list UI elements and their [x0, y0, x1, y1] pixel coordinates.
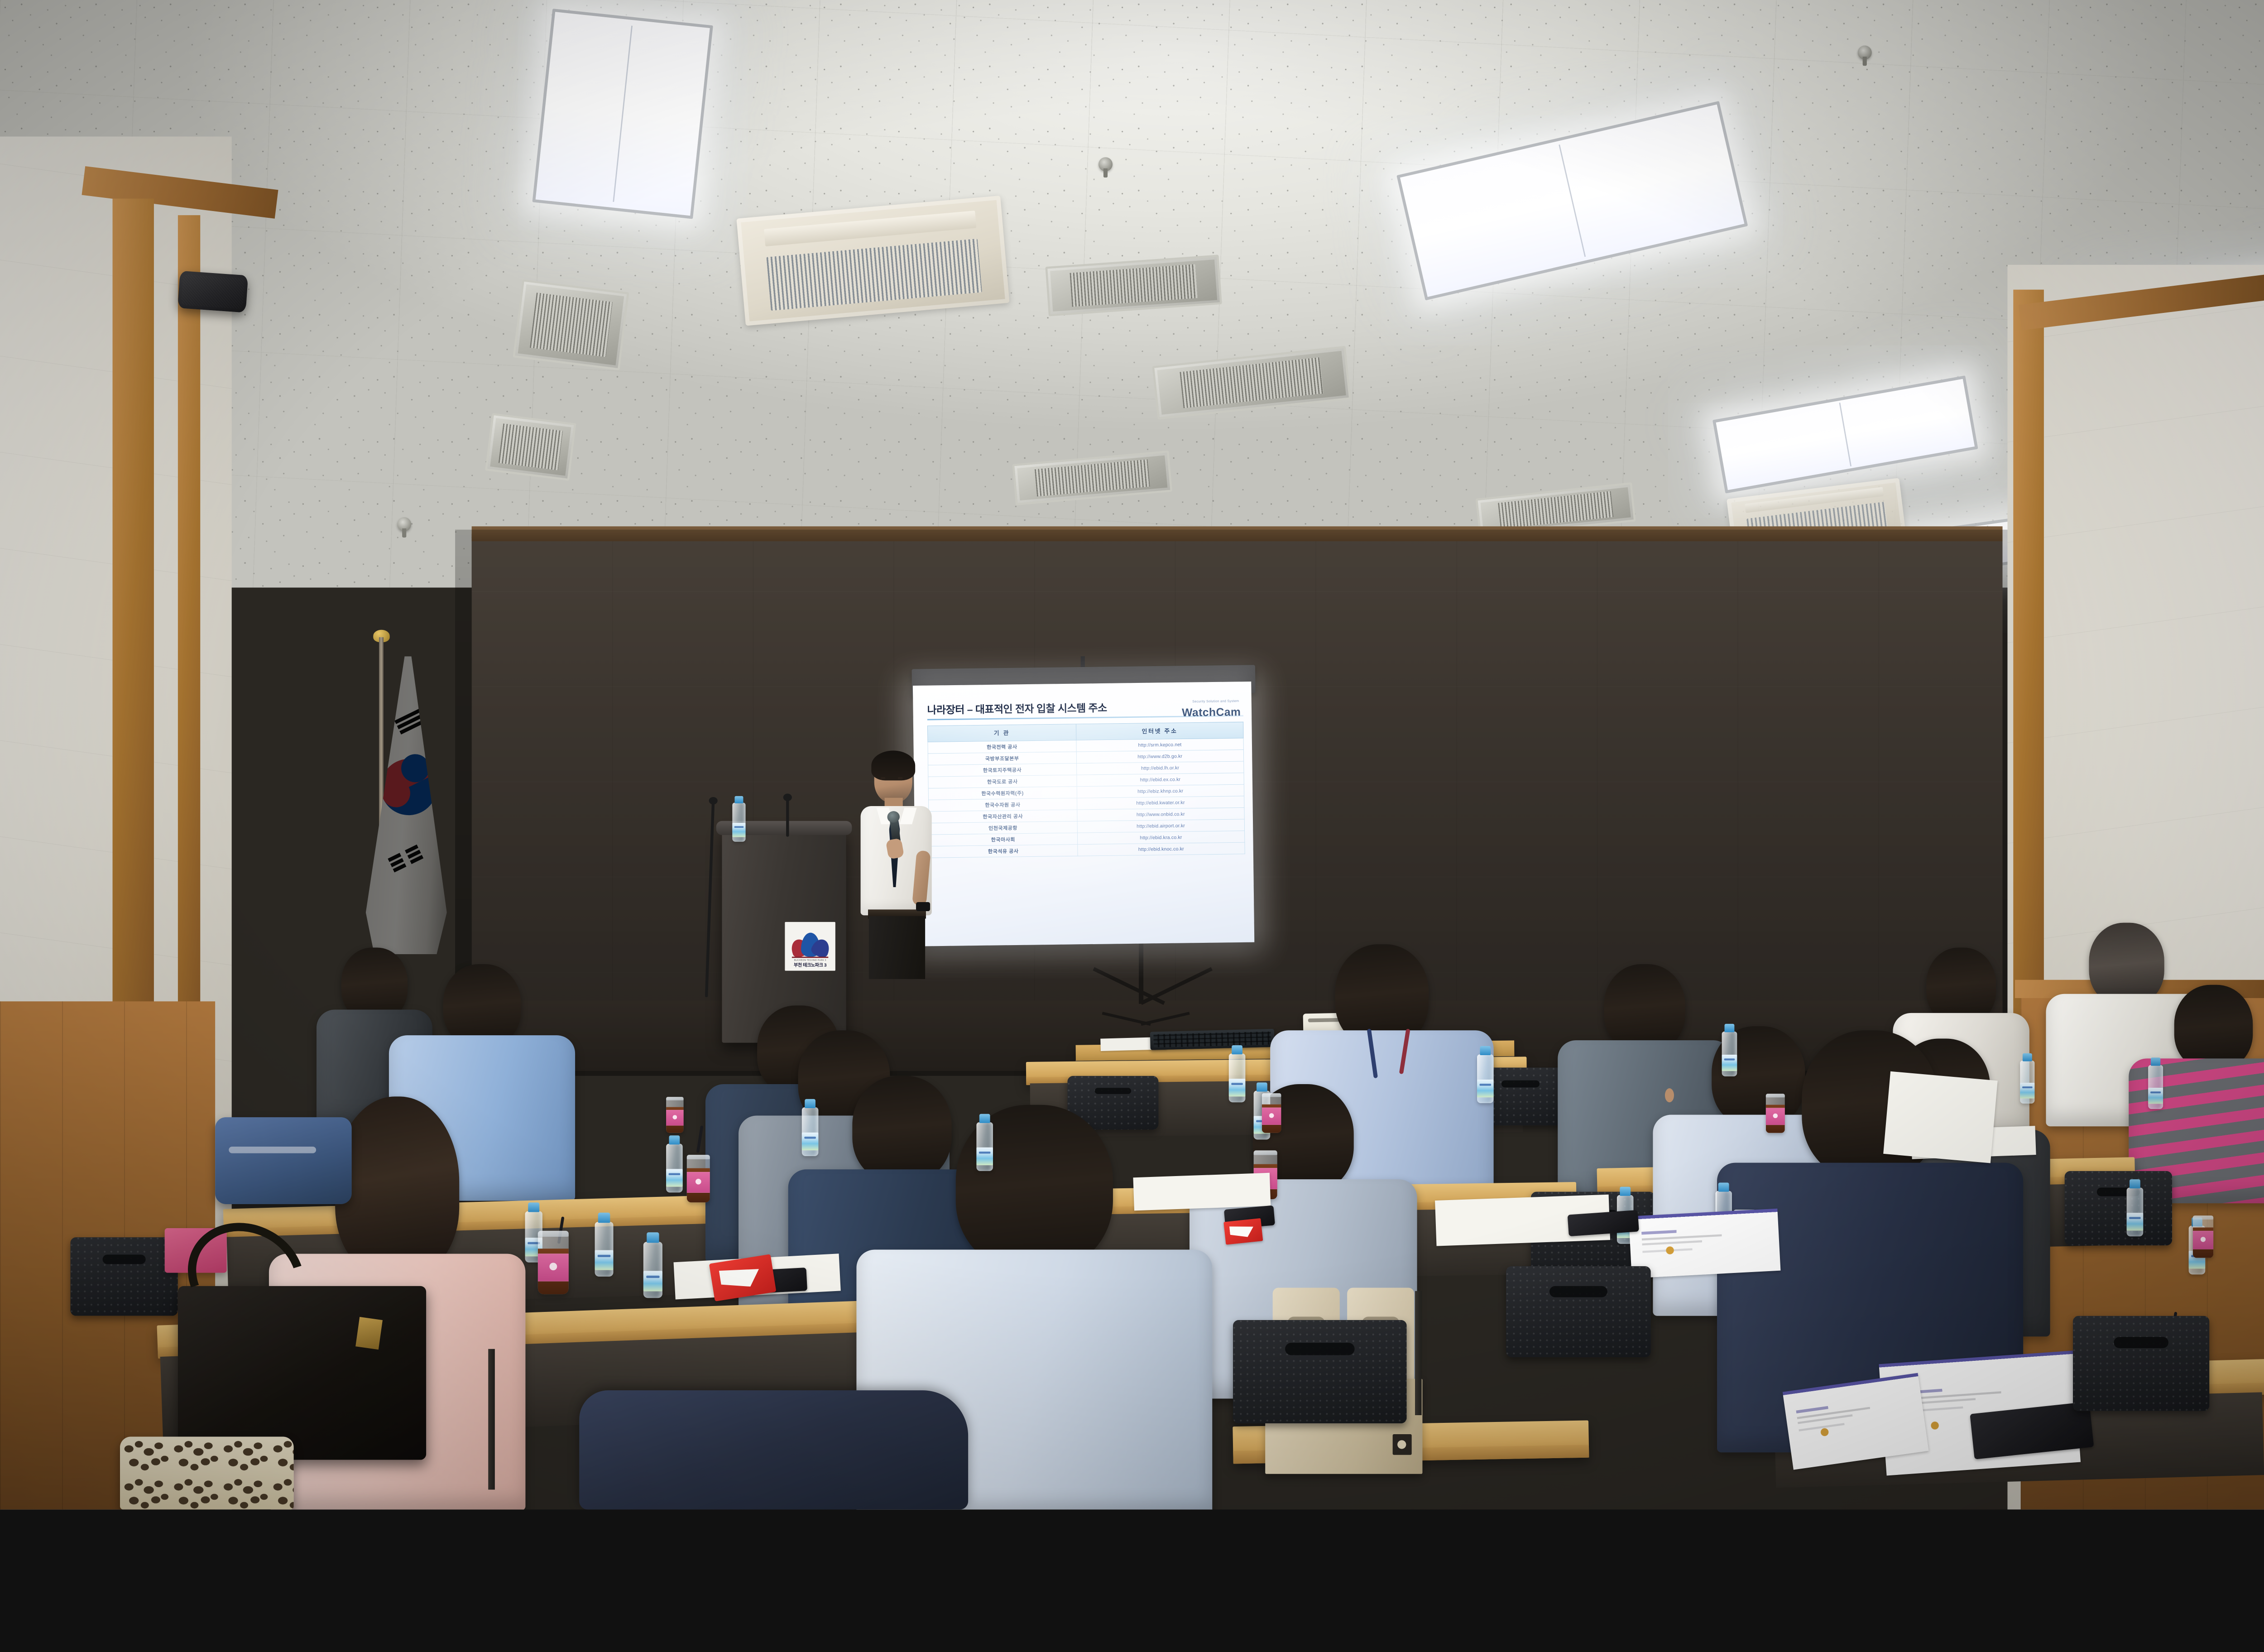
water-bottle [1477, 1054, 1494, 1103]
handout [1133, 1173, 1271, 1211]
cell-organization: 한국토지주택공사 [928, 764, 1077, 777]
cell-organization: 한국석유 공사 [929, 845, 1078, 858]
chair [2065, 1171, 2173, 1245]
cell-organization: 한국전력 공사 [928, 740, 1076, 754]
chair [2073, 1316, 2210, 1411]
water-bottle [732, 802, 745, 841]
water-bottle [643, 1242, 662, 1298]
left-wall-pillar [178, 215, 200, 1034]
bucheon-techno-park-mark [790, 933, 830, 959]
water-bottle [1229, 1053, 1246, 1102]
attendee-head [2174, 985, 2253, 1070]
trigram-geon [394, 708, 428, 735]
iced-coffee-cup [1262, 1093, 1281, 1133]
gooseneck-microphone [786, 799, 789, 836]
chair [1506, 1266, 1651, 1357]
iced-coffee-cup [538, 1231, 569, 1294]
leopard-print-bag [120, 1437, 294, 1510]
lecture-room-photo: Security Solution and System WatchCam 나라… [0, 0, 2264, 1509]
iced-coffee-cup [2193, 1215, 2213, 1258]
wall-speaker [177, 271, 248, 313]
water-bottle [666, 1144, 683, 1193]
ceiling-vent [513, 279, 629, 370]
cell-organization: 한국수력원자력(주) [928, 787, 1077, 800]
water-bottle [595, 1222, 614, 1277]
trigram-gon [388, 845, 424, 874]
cell-organization: 한국도로 공사 [928, 775, 1077, 788]
ceiling-sprinkler [397, 517, 411, 531]
carrier-logo [1393, 1434, 1412, 1455]
korean-flag [364, 656, 448, 954]
column-header-url: 인터넷 주소 [1076, 722, 1243, 740]
drinking-straw [696, 1125, 704, 1153]
cell-organization: 한국자산관리 공사 [929, 810, 1077, 823]
back-wall-trim [472, 526, 2003, 541]
ceiling-light-panel [532, 9, 713, 219]
presenter [851, 747, 942, 979]
slide-logo-tagline: Security Solution and System [1192, 699, 1239, 703]
desk-leg [1415, 1291, 1422, 1415]
cell-url: http://ebid.knoc.co.kr [1077, 842, 1245, 856]
lectern-organization-logo: BUCHEON TECHNO PARK 3 부천 테크노파크 3 [785, 922, 835, 971]
slide-brand-logo: WatchCam [1182, 706, 1241, 719]
ceiling-ac-unit [736, 196, 1009, 326]
water-bottle [1722, 1032, 1737, 1076]
water-bottle [2148, 1065, 2163, 1109]
cell-organization: 한국마사회 [929, 833, 1077, 846]
ceiling-vent [485, 413, 576, 481]
notepad [1883, 1071, 1998, 1163]
attendee-head [443, 964, 521, 1047]
iced-coffee-cup [1766, 1094, 1785, 1133]
logo-korean-text: 부천 테크노파크 3 [794, 962, 826, 969]
chair [70, 1237, 178, 1316]
folded-jacket [579, 1390, 968, 1509]
iced-coffee-cup [687, 1155, 710, 1202]
cell-organization: 국방부조달본부 [928, 752, 1076, 765]
brochure [1629, 1209, 1781, 1278]
water-bottle [802, 1107, 819, 1156]
presenter-wristwatch [916, 902, 930, 911]
desk-leg [488, 1349, 495, 1490]
presenter-eye [898, 777, 903, 779]
water-bottle [976, 1122, 993, 1171]
ceiling-sprinkler [1858, 46, 1872, 60]
cell-organization: 인천국제공항 [929, 821, 1077, 835]
handbag [178, 1286, 426, 1460]
presentation-slide: Security Solution and System WatchCam 나라… [927, 698, 1246, 907]
chair [1233, 1320, 1407, 1423]
left-wall-pillar [113, 199, 154, 1026]
presenter-trousers [869, 916, 925, 979]
cell-organization: 한국수자원 공사 [928, 798, 1077, 812]
tote-bag [215, 1117, 352, 1204]
water-bottle [2020, 1061, 2034, 1104]
water-bottle [2127, 1187, 2144, 1236]
iced-coffee-cup [666, 1097, 684, 1133]
handbag-hardware [355, 1317, 383, 1349]
attendee-head [335, 1096, 459, 1274]
snack-pack [1223, 1218, 1263, 1245]
projection-screen: Security Solution and System WatchCam 나라… [913, 682, 1254, 946]
attendee [2127, 985, 2264, 1200]
column-header-organization: 기 관 [927, 724, 1076, 742]
presenter-hair [871, 751, 915, 781]
ceiling-sprinkler [1098, 157, 1113, 171]
attendee-ear [1665, 1088, 1674, 1102]
slide-address-table: 기 관 인터넷 주소 한국전력 공사http://srm.kepco.net국방… [927, 722, 1245, 858]
computer-keyboard [1150, 1029, 1275, 1050]
presenter-eye [880, 777, 885, 779]
